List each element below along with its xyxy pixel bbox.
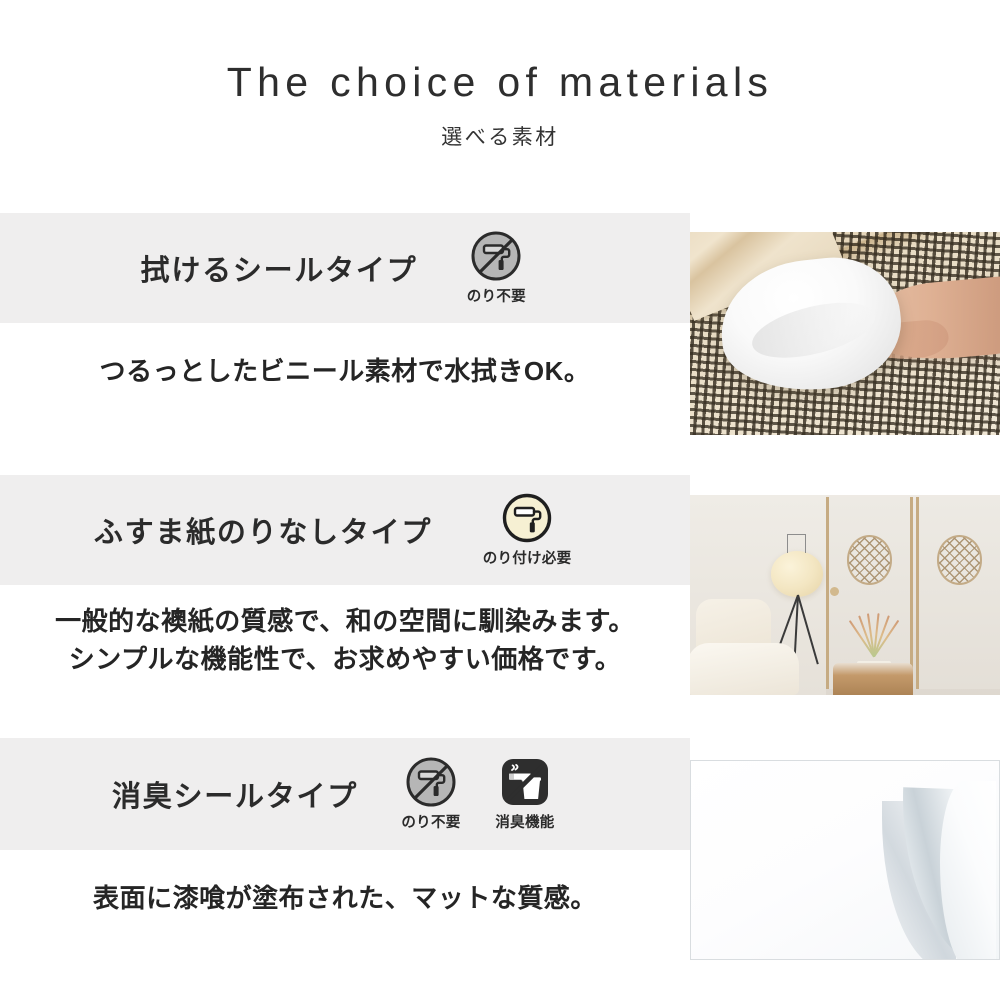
page-header: The choice of materials 選べる素材	[0, 0, 1000, 200]
description-line-2: シンプルな機能性で、お求めやすい価格です。	[0, 641, 690, 679]
towel-wiping-rattan-photo	[690, 232, 1000, 435]
badge-label: のり不要	[401, 811, 460, 832]
japanese-interior-photo	[690, 495, 1000, 695]
badge-group: のり不要 消臭機能	[392, 756, 564, 832]
section-band-row: 消臭シールタイプ のり不要	[0, 738, 690, 850]
section-title: 拭けるシールタイプ	[141, 247, 418, 289]
lattice-circle	[847, 535, 892, 584]
badge-label: 消臭機能	[495, 811, 554, 832]
page-subtitle: 選べる素材	[0, 105, 1000, 151]
section-band-row: ふすま紙のりなしタイプ のり付け必要	[0, 475, 690, 585]
fusuma-panel-right	[916, 497, 1000, 689]
deodorize-function-icon	[499, 756, 551, 808]
paper-lantern-lamp	[771, 551, 824, 597]
armchair-seat	[690, 643, 799, 695]
lattice-circle	[937, 535, 982, 584]
white-curling-sheet-photo	[690, 760, 1000, 960]
side-table	[833, 663, 914, 695]
badge-group: のり付け必要	[472, 492, 582, 568]
badge-label: のり付け必要	[483, 547, 572, 568]
section-description: つるっとしたビニール素材で水拭きOK。	[0, 353, 690, 391]
section-title: 消臭シールタイプ	[112, 773, 358, 815]
section-band-row: 拭けるシールタイプ のり不要	[0, 213, 690, 323]
no-glue-roller-icon	[470, 230, 522, 282]
badge-deodorize: 消臭機能	[486, 756, 564, 832]
badge-glue-required: のり付け必要	[472, 492, 582, 568]
no-glue-roller-icon	[405, 756, 457, 808]
section-description: 一般的な襖紙の質感で、和の空間に馴染みます。 シンプルな機能性で、お求めやすい価…	[0, 603, 690, 678]
glue-required-roller-icon	[501, 492, 553, 544]
material-choice-page: The choice of materials 選べる素材 拭けるシールタイプ …	[0, 0, 1000, 1000]
description-line-1: 一般的な襖紙の質感で、和の空間に馴染みます。	[0, 603, 690, 641]
page-title: The choice of materials	[0, 0, 1000, 105]
section-description: 表面に漆喰が塗布された、マットな質感。	[0, 880, 690, 918]
fusuma-knob	[830, 587, 839, 596]
badge-group: のり不要	[457, 230, 535, 306]
badge-label: のり不要	[467, 285, 526, 306]
pampas-plant	[836, 611, 910, 667]
badge-no-glue: のり不要	[392, 756, 470, 832]
badge-no-glue: のり不要	[457, 230, 535, 306]
sheet-curl-edge	[940, 781, 995, 960]
section-title: ふすま紙のりなしタイプ	[94, 509, 432, 551]
